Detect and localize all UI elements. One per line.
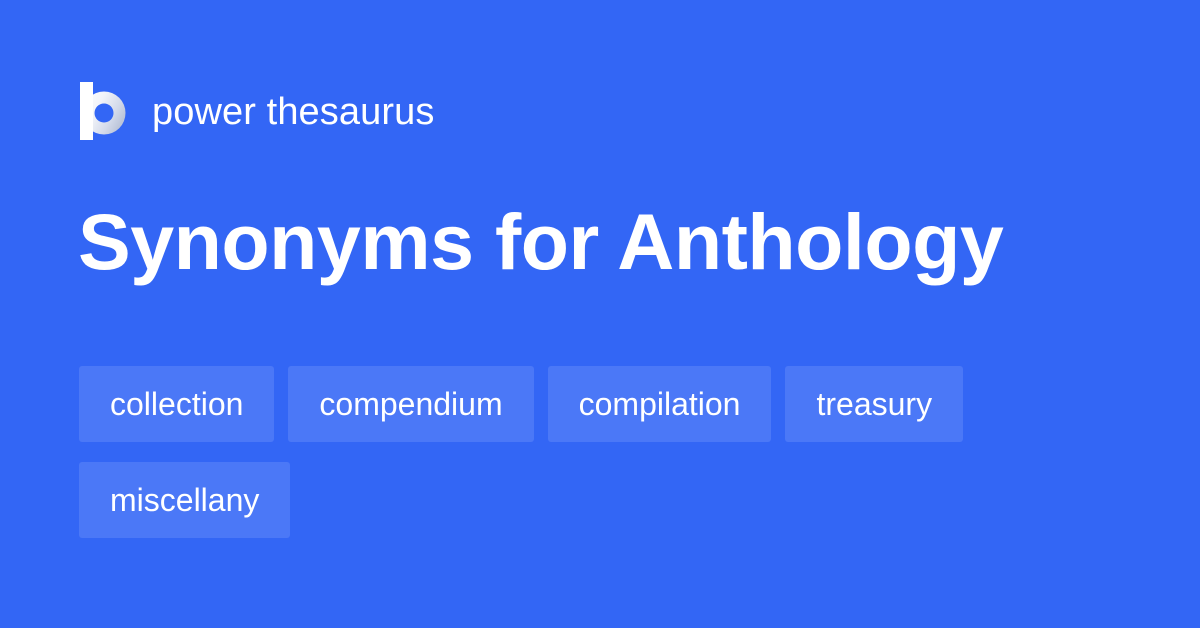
power-thesaurus-logo-icon [80, 82, 126, 140]
synonym-chip[interactable]: collection [79, 366, 274, 442]
synonym-chip[interactable]: miscellany [79, 462, 290, 538]
synonym-chip[interactable]: treasury [785, 366, 963, 442]
synonym-chip-list: collection compendium compilation treasu… [79, 366, 1089, 538]
social-share-card: power thesaurus Synonyms for Anthology c… [0, 0, 1200, 628]
synonym-chip[interactable]: compilation [548, 366, 772, 442]
synonym-chip[interactable]: compendium [288, 366, 533, 442]
page-title: Synonyms for Anthology [78, 196, 1003, 288]
brand-name: power thesaurus [152, 93, 434, 131]
brand-lockup[interactable]: power thesaurus [80, 80, 434, 142]
